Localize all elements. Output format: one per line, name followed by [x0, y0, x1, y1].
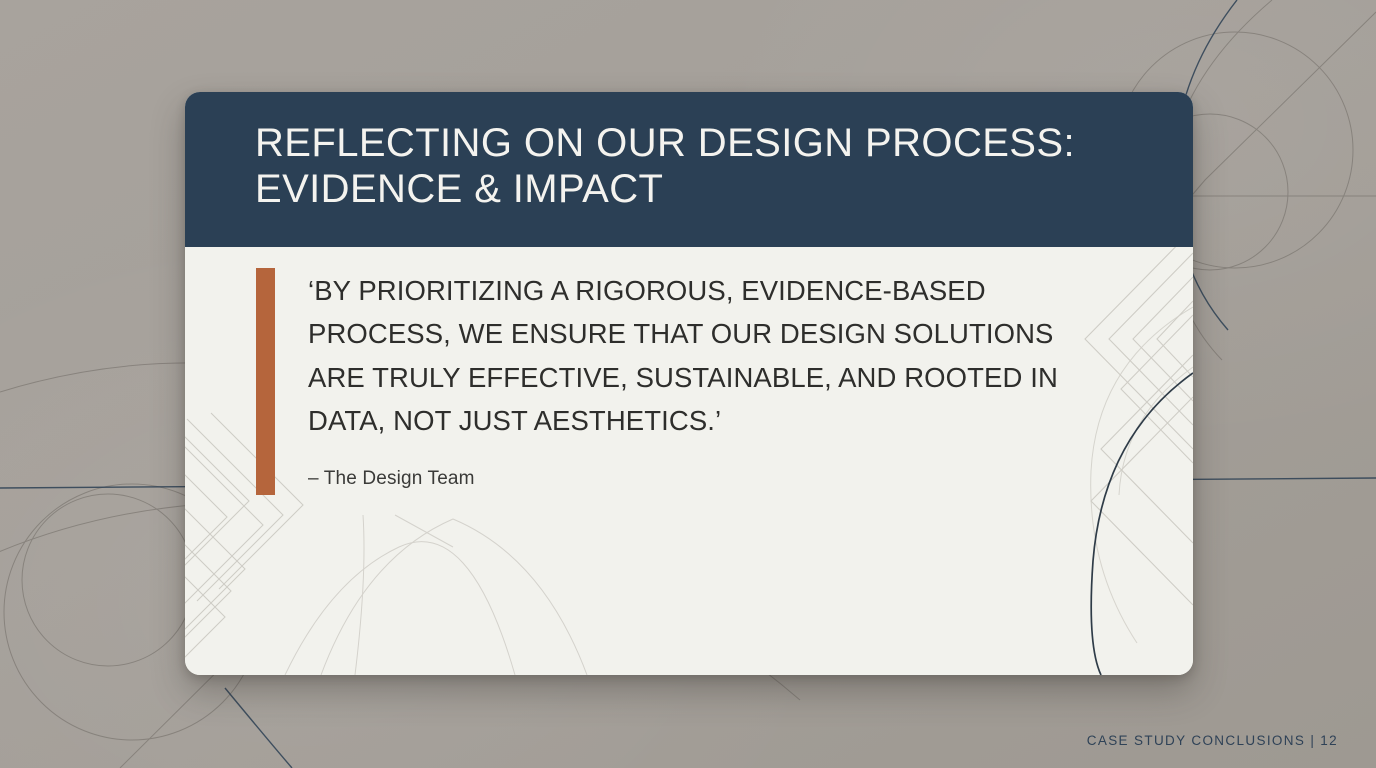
accent-bar — [256, 268, 275, 495]
dark-arc-line — [1091, 373, 1193, 675]
page-title: Reflecting on Our Design Process: Eviden… — [255, 120, 1135, 213]
quote-attribution: – The Design Team — [308, 467, 1068, 492]
slide-header-band: Reflecting on Our Design Process: Eviden… — [185, 92, 1193, 247]
quote-text: ‘By prioritizing a rigorous, evidence-ba… — [308, 269, 1068, 443]
slide-footer: CASE STUDY CONCLUSIONS | 12 — [1087, 733, 1338, 748]
quote-block: ‘By prioritizing a rigorous, evidence-ba… — [256, 268, 1096, 495]
slide-body: ‘By prioritizing a rigorous, evidence-ba… — [185, 247, 1193, 675]
slide-card: Reflecting on Our Design Process: Eviden… — [185, 92, 1193, 675]
chevron-pattern — [1085, 247, 1193, 605]
